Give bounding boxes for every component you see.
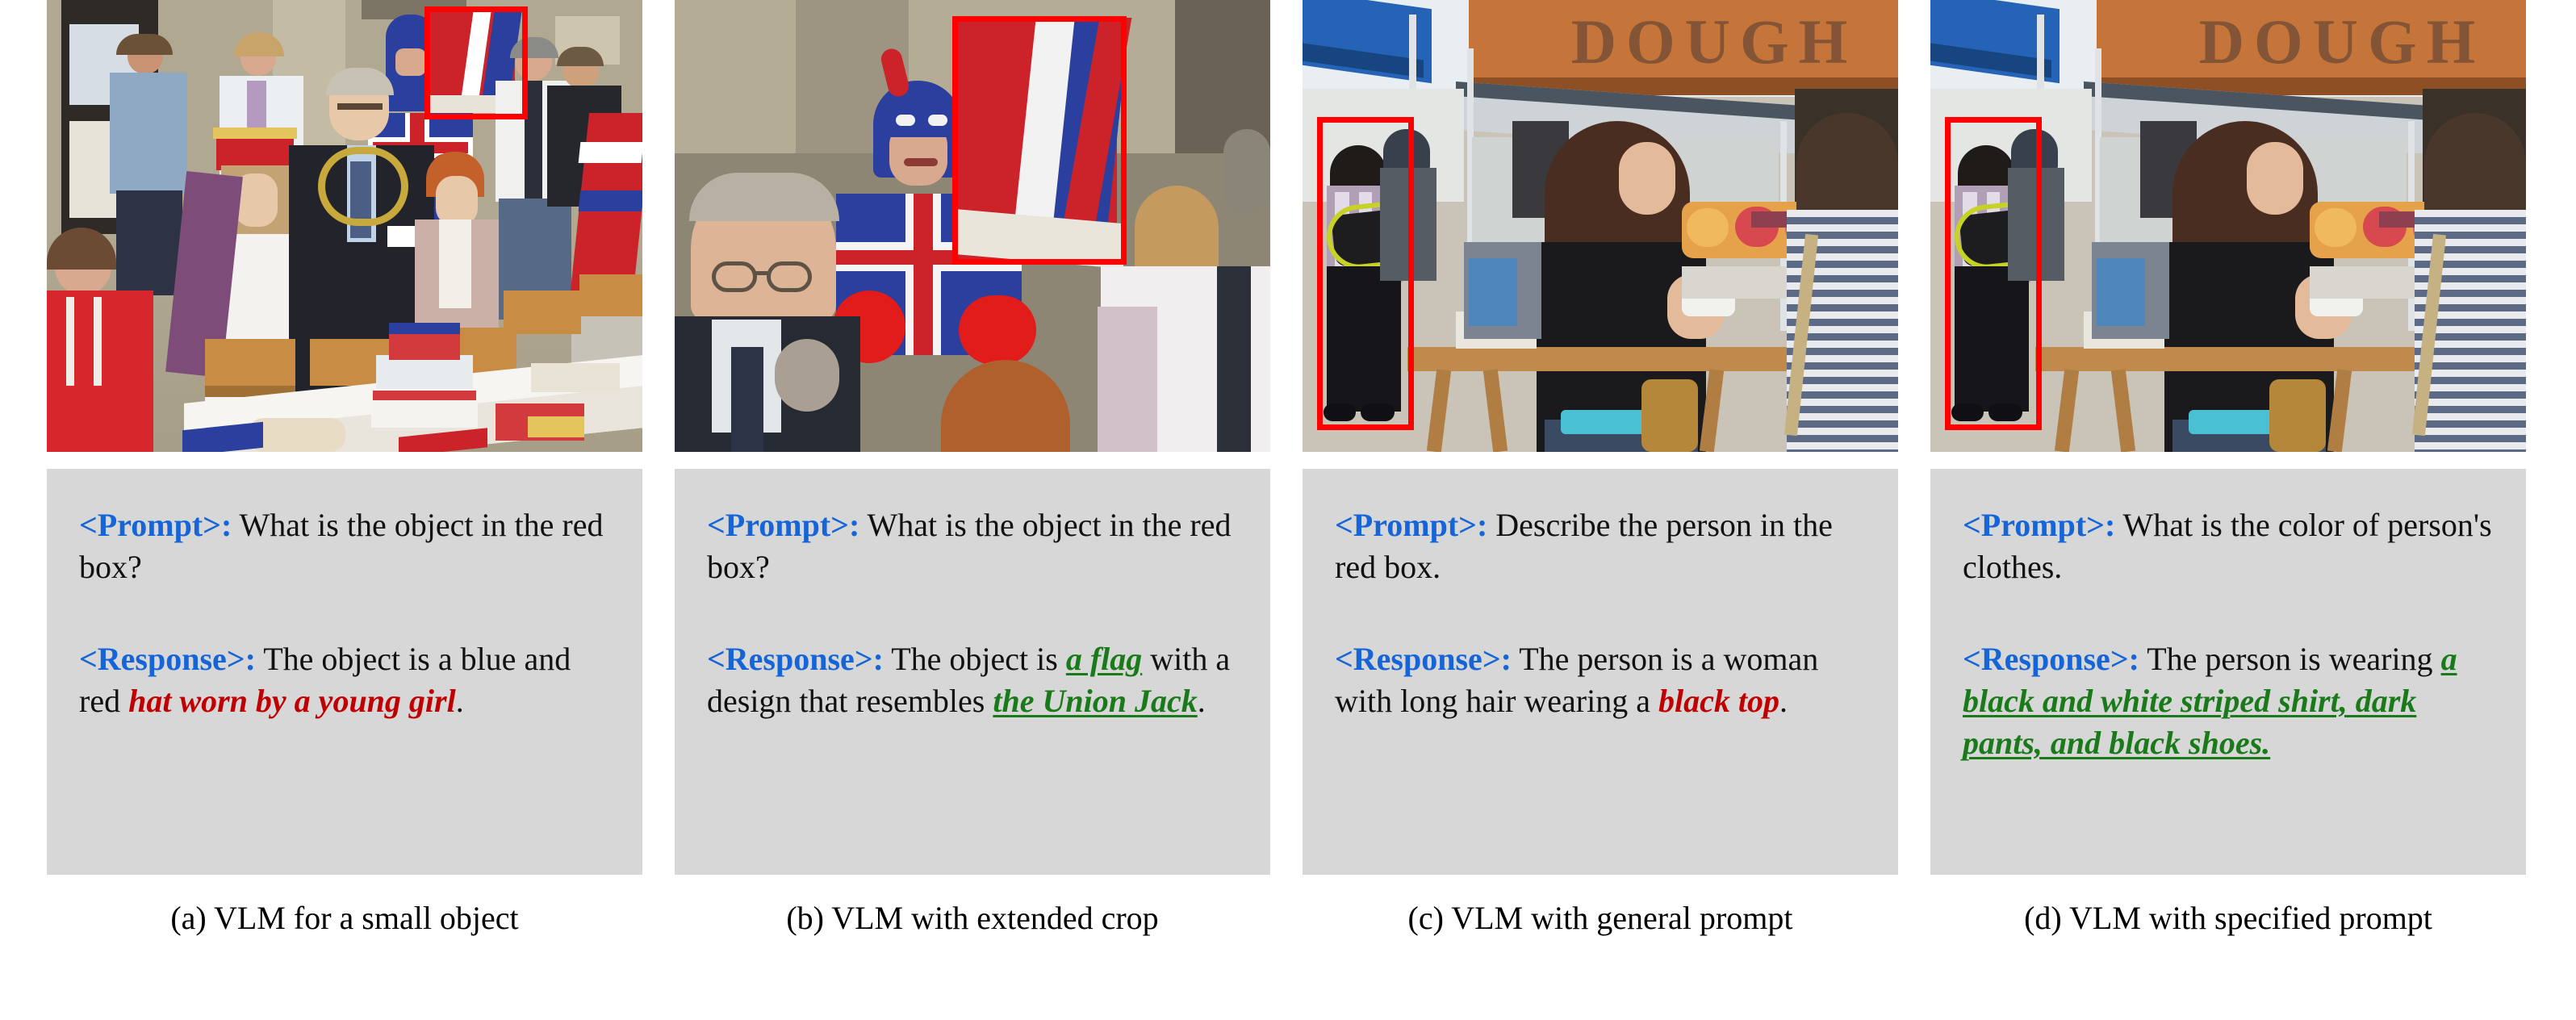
panel-d-response: <Response>: The person is wearing a blac… [1963, 638, 2494, 764]
panel-b-caption: (b) VLM with extended crop [675, 899, 1270, 937]
dough-sign-text: DOUGH [2172, 5, 2511, 79]
panel-c-photo: DOUGH [1303, 0, 1898, 452]
response-label: <Response>: [1335, 641, 1512, 677]
response-highlight: hat worn by a young girl [128, 683, 456, 719]
panel-a-prompt: <Prompt>: What is the object in the red … [79, 504, 610, 588]
prompt-label: <Prompt>: [1335, 507, 1487, 543]
prompt-label: <Prompt>: [79, 507, 232, 543]
response-highlight-2: the Union Jack [993, 683, 1197, 719]
vlm-comparison-figure: <Prompt>: What is the object in the red … [0, 0, 2576, 1020]
panel-b: <Prompt>: What is the object in the red … [675, 0, 1270, 937]
panel-d-textbox: <Prompt>: What is the color of person's … [1930, 469, 2526, 875]
response-prefix: The object is [884, 641, 1066, 677]
response-label: <Response>: [79, 641, 256, 677]
panel-a-response: <Response>: The object is a blue and red… [79, 638, 610, 722]
panel-d-prompt: <Prompt>: What is the color of person's … [1963, 504, 2494, 588]
bounding-box-b [952, 16, 1127, 265]
response-suffix: . [1779, 683, 1788, 719]
response-label: <Response>: [1963, 641, 2139, 677]
panel-d-photo: DOUGH [1930, 0, 2526, 452]
panel-b-response: <Response>: The object is a flag with a … [707, 638, 1238, 722]
response-highlight: a flag [1066, 641, 1142, 677]
response-highlight: black top [1658, 683, 1779, 719]
response-suffix: . [456, 683, 464, 719]
bounding-box-c [1317, 117, 1414, 430]
prompt-label: <Prompt>: [1963, 507, 2115, 543]
panel-d-caption: (d) VLM with specified prompt [1930, 899, 2526, 937]
panel-c-prompt: <Prompt>: Describe the person in the red… [1335, 504, 1866, 588]
panel-a-caption: (a) VLM for a small object [47, 899, 642, 937]
panel-c: DOUGH [1303, 0, 1898, 937]
response-suffix: . [1198, 683, 1206, 719]
panel-d: DOUGH [1930, 0, 2526, 937]
response-label: <Response>: [707, 641, 884, 677]
panel-c-caption: (c) VLM with general prompt [1303, 899, 1898, 937]
panel-a-textbox: <Prompt>: What is the object in the red … [47, 469, 642, 875]
panel-b-photo [675, 0, 1270, 452]
panel-b-textbox: <Prompt>: What is the object in the red … [675, 469, 1270, 875]
bounding-box-d [1945, 117, 2042, 430]
panel-c-textbox: <Prompt>: Describe the person in the red… [1303, 469, 1898, 875]
prompt-label: <Prompt>: [707, 507, 859, 543]
bounding-box-a [424, 6, 528, 119]
panel-a: <Prompt>: What is the object in the red … [47, 0, 642, 937]
panel-a-photo [47, 0, 642, 452]
dough-sign-text: DOUGH [1545, 5, 1884, 79]
panel-b-prompt: <Prompt>: What is the object in the red … [707, 504, 1238, 588]
panel-c-response: <Response>: The person is a woman with l… [1335, 638, 1866, 722]
response-prefix: The person is wearing [2139, 641, 2441, 677]
